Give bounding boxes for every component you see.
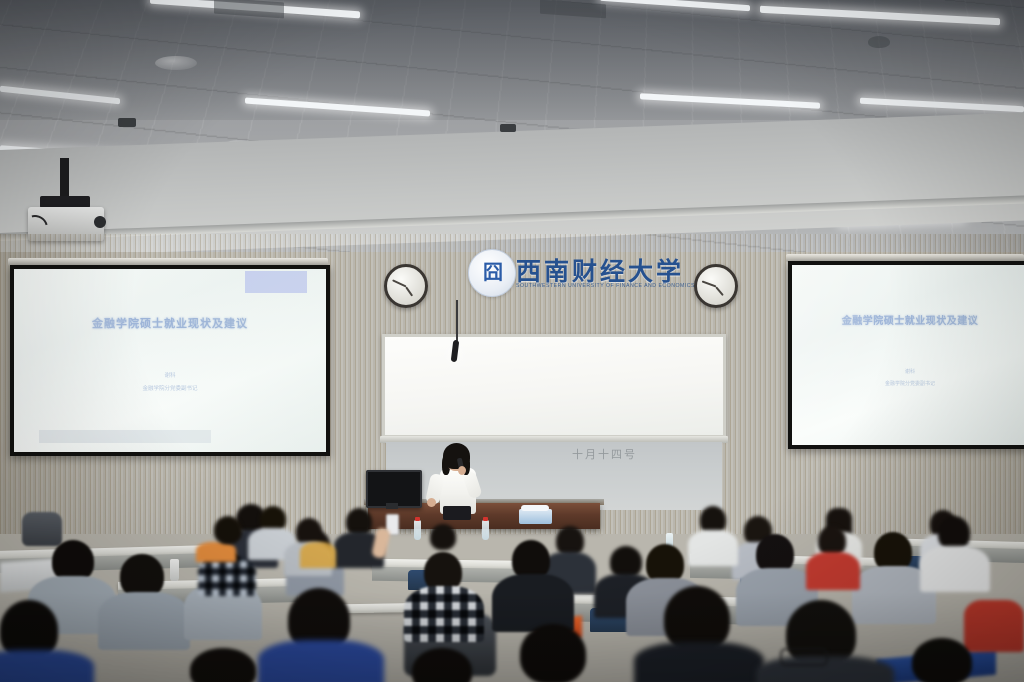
clock-minute-hand	[392, 280, 406, 288]
audience-torso-orange	[196, 542, 236, 562]
audience-head-foreground	[190, 648, 256, 682]
presenter-left-hand	[427, 498, 436, 507]
water-bottle	[482, 520, 489, 540]
presenter-right-hand	[458, 466, 466, 475]
university-name-english: SOUTHWESTERN UNIVERSITY OF FINANCE AND E…	[516, 283, 706, 289]
wall-clock-left	[384, 264, 428, 308]
ceiling-speaker-icon	[868, 36, 890, 48]
audience-torso	[688, 530, 738, 566]
lecture-hall-photo: 囧 西南财经大学 SOUTHWESTERN UNIVERSITY OF FINA…	[0, 0, 1024, 682]
ceiling-sensor-icon	[118, 118, 136, 127]
audience-torso-foreground	[0, 650, 94, 682]
presenter-hair	[443, 443, 470, 469]
screen-right[interactable]: 金融学院硕士就业现状及建议 谢科 金融学院分党委副书记	[788, 261, 1024, 449]
university-logo-glyph: 囧	[483, 263, 501, 283]
projector-lens-icon	[94, 216, 106, 228]
ceiling	[0, 0, 1024, 252]
audience-torso	[98, 592, 190, 650]
presenter-skirt	[443, 506, 471, 520]
bottle-cap	[483, 517, 488, 521]
tissue-box-lid	[521, 505, 549, 511]
audience-head-foreground	[912, 638, 972, 682]
audience-torso	[920, 546, 990, 592]
bottle-cap	[415, 517, 420, 521]
audience-torso-red	[806, 552, 860, 590]
audience-torso-foreground	[258, 640, 384, 682]
university-logo-icon: 囧	[468, 249, 516, 297]
audience-torso-foreground	[634, 642, 764, 682]
clock-hour-hand	[405, 286, 413, 296]
screen-left-surface: 金融学院硕士就业现状及建议 谢科 金融学院分党委副书记	[14, 269, 326, 452]
wall-clock-right	[694, 264, 738, 308]
audience-head	[214, 516, 242, 544]
audience-torso-red	[964, 600, 1024, 652]
audience-torso-plaid	[404, 586, 484, 642]
tissue-box	[519, 509, 552, 524]
audience-head	[430, 524, 456, 550]
screen-left[interactable]: 金融学院硕士就业现状及建议 谢科 金融学院分党委副书记	[10, 265, 330, 456]
clock-minute-hand	[702, 281, 717, 288]
screen-right-surface: 金融学院硕士就业现状及建议 谢科 金融学院分党委副书记	[792, 265, 1024, 445]
whiteboard-writing: 十月十四号	[572, 446, 637, 462]
screen-left-glare	[14, 269, 326, 452]
eyeglasses-icon	[780, 648, 828, 666]
screen-right-glare	[792, 265, 1024, 445]
thermos-cup	[170, 559, 179, 581]
audience-torso-plaid	[198, 556, 256, 596]
audience-head-foreground	[520, 624, 586, 682]
audience-head	[938, 516, 970, 550]
audience-torso	[492, 574, 574, 632]
ceiling-sensor-icon	[500, 124, 516, 132]
monitor-stand	[386, 503, 398, 509]
audience-torso-yellow	[300, 542, 336, 568]
water-bottle	[414, 520, 421, 540]
ceiling-dome-light	[155, 56, 197, 70]
clock-hour-hand	[715, 286, 724, 296]
whiteboard-upper-panel	[382, 334, 726, 438]
handbag	[22, 512, 62, 546]
